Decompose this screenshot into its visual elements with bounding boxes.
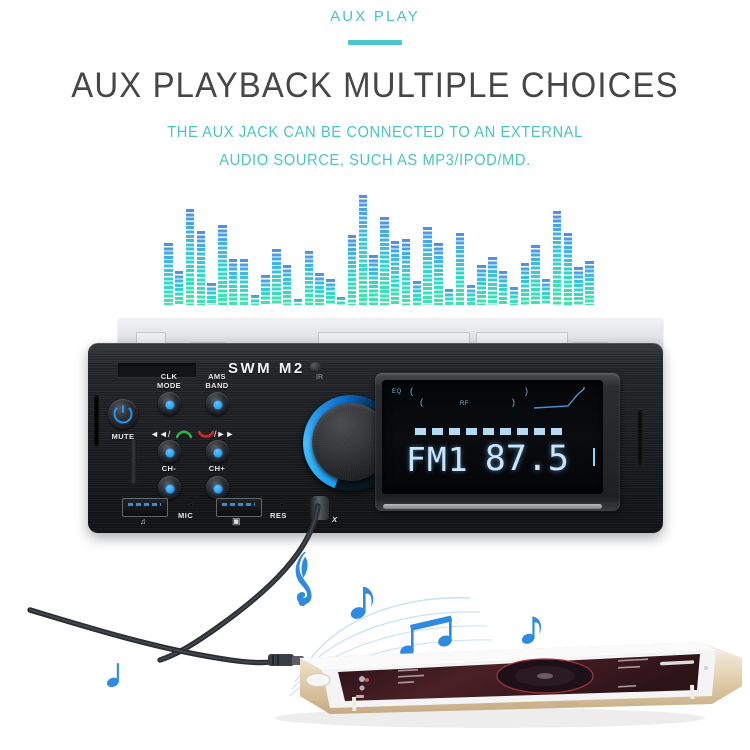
eq-bar — [240, 259, 248, 305]
eq-column — [260, 275, 271, 305]
eq-column — [530, 245, 541, 305]
ir-receiver-icon — [310, 362, 321, 371]
lcd-eq-tag: EQ — [392, 389, 402, 395]
eq-bar — [531, 245, 539, 305]
eq-column — [347, 235, 358, 305]
subtitle-line-2: AUDIO SOURCE, SUCH AS MP3/IPOD/MD. — [19, 152, 732, 170]
eq-column — [282, 265, 293, 305]
eq-bar — [521, 263, 529, 305]
front-camera — [704, 666, 708, 670]
lcd-signal-dashes — [415, 428, 565, 435]
eq-column — [163, 243, 174, 305]
eq-bar — [477, 265, 485, 305]
eq-bar — [402, 239, 410, 305]
eq-column — [509, 287, 520, 305]
next-track-icon: /►► — [214, 429, 234, 439]
eq-column — [444, 289, 455, 305]
eq-column — [185, 209, 196, 305]
ir-label: IR — [316, 374, 323, 381]
aux-cable — [30, 506, 318, 663]
lcd-rf-tag: RF — [460, 401, 469, 407]
eq-column — [357, 195, 368, 305]
record-dot — [365, 678, 369, 682]
eq-column — [217, 225, 228, 305]
eq-column — [552, 211, 563, 305]
eq-bar — [326, 279, 334, 305]
lcd-band-text: FM1 — [406, 440, 469, 479]
equalizer-graphic — [163, 190, 595, 305]
eq-column — [487, 257, 498, 305]
eq-column — [174, 271, 185, 305]
eq-column — [519, 263, 530, 305]
eq-bar — [380, 217, 388, 305]
eq-bar — [369, 255, 377, 305]
ams-band-button[interactable] — [206, 392, 229, 415]
eq-column — [465, 285, 476, 305]
eq-bar — [229, 259, 237, 305]
end-call-icon — [198, 427, 214, 439]
brand-label: SWM M2 — [228, 360, 305, 377]
eq-bar — [499, 271, 507, 305]
eq-column — [271, 249, 282, 305]
product-marketing-image: AUX PLAY AUX PLAYBACK MULTIPLE CHOICES T… — [0, 0, 750, 750]
eq-column — [239, 259, 250, 305]
eq-bar — [261, 275, 269, 305]
eq-column — [303, 251, 314, 305]
eq-bar — [488, 257, 496, 305]
eq-bar — [585, 261, 593, 305]
eq-column — [379, 217, 390, 305]
clk-mode-button[interactable] — [158, 392, 181, 415]
home-button — [306, 674, 330, 687]
eq-bar — [542, 279, 550, 305]
eq-column — [411, 281, 422, 305]
subtitle-line-1: THE AUX JACK CAN BE CONNECTED TO AN EXTE… — [19, 124, 732, 142]
eighth-note-icon-3 — [106, 663, 120, 689]
eq-column — [476, 265, 487, 305]
lcd-indicator-row: EQ ( ) ( RF ) — [392, 388, 592, 418]
eq-bar — [337, 297, 345, 305]
treble-clef-icon — [296, 552, 311, 606]
eq-bar — [186, 209, 194, 305]
aux-slot — [130, 438, 137, 483]
right-edge-slot — [637, 409, 643, 467]
end-next-button[interactable] — [206, 440, 229, 463]
eq-column — [433, 243, 444, 305]
prev-call-button[interactable] — [158, 440, 181, 463]
answer-call-icon — [176, 427, 192, 439]
eq-column — [455, 233, 466, 305]
eq-column — [206, 283, 217, 305]
eq-bar — [574, 267, 582, 305]
eq-bar — [553, 211, 561, 305]
ch-plus-label: CH+ — [196, 465, 238, 474]
ams-band-label: AMSBAND — [196, 373, 238, 390]
eq-column — [368, 255, 379, 305]
eq-column — [293, 299, 304, 305]
eighth-note-icon — [349, 587, 373, 621]
eq-column — [195, 231, 206, 305]
eq-bar — [197, 231, 205, 305]
eyebrow-label: AUX PLAY — [0, 8, 750, 25]
eq-bar — [434, 243, 442, 305]
eq-bar — [456, 233, 464, 305]
eq-column — [562, 233, 573, 305]
eq-column — [401, 239, 412, 305]
mute-label: MUTE — [100, 433, 146, 442]
eq-bar — [175, 271, 183, 305]
eq-column — [541, 279, 552, 305]
eq-bar — [564, 233, 572, 305]
ch-minus-label: CH- — [148, 465, 190, 474]
prev-track-icon: ◄◄/ — [150, 429, 170, 439]
accent-rule — [348, 40, 402, 45]
eq-bar — [251, 295, 259, 305]
eq-bar — [315, 273, 323, 305]
aux-scene-artwork — [0, 490, 750, 750]
eq-bar — [413, 281, 421, 305]
eq-bar — [272, 249, 280, 305]
eq-column — [314, 273, 325, 305]
eq-bar — [359, 195, 367, 305]
eq-bar — [164, 243, 172, 305]
lcd-frequency-text: 87.5 — [485, 439, 569, 479]
eq-column — [390, 241, 401, 305]
eq-bar — [445, 289, 453, 305]
eq-bar — [348, 235, 356, 305]
lcd-display: EQ ( ) ( RF ) FM1 87.5 — [382, 380, 603, 494]
eq-bar — [218, 225, 226, 305]
eq-bar — [207, 283, 215, 305]
eq-column — [228, 259, 239, 305]
clk-mode-label: CLKMODE — [148, 373, 190, 390]
eighth-note-icon-2 — [520, 617, 541, 646]
power-icon — [122, 405, 124, 413]
smartphone — [275, 642, 742, 728]
lcd-tick-mark — [593, 448, 595, 466]
eq-column — [584, 261, 595, 305]
power-mute-button[interactable] — [108, 399, 138, 429]
eq-bar — [391, 241, 399, 305]
eq-column — [336, 297, 347, 305]
eq-bar — [283, 265, 291, 305]
lcd-waveform-icon — [534, 386, 592, 416]
eq-bar — [294, 299, 302, 305]
aux-plug-phone — [268, 654, 304, 666]
eq-bar — [510, 287, 518, 305]
eq-bar — [467, 285, 475, 305]
eq-column — [422, 227, 433, 305]
left-edge-slot — [94, 395, 99, 447]
eq-column — [249, 295, 260, 305]
eq-column — [325, 279, 336, 305]
eq-bar — [305, 251, 313, 305]
beamed-notes-icon — [399, 616, 454, 659]
eq-column — [573, 267, 584, 305]
eq-column — [498, 271, 509, 305]
page-title: AUX PLAYBACK MULTIPLE CHOICES — [23, 66, 728, 106]
eq-bar — [423, 227, 431, 305]
